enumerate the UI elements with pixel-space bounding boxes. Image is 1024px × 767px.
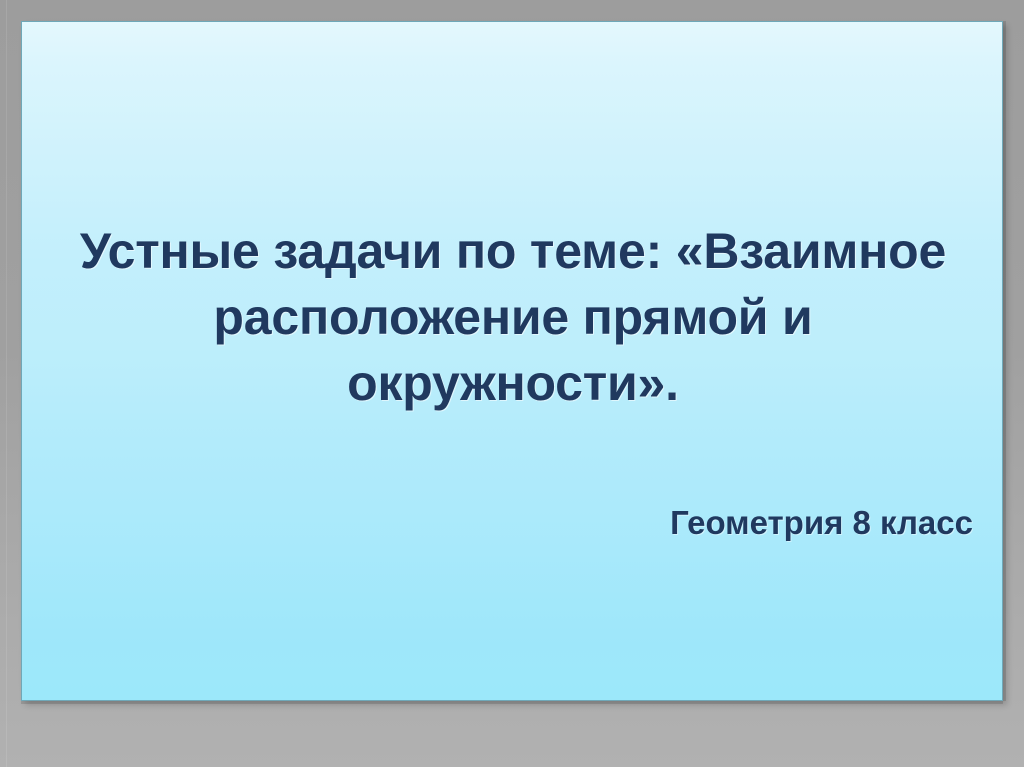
slide-title-placeholder[interactable]: Устные задачи по теме: «Взаимное располо… bbox=[72, 218, 954, 416]
slide-title: Устные задачи по теме: «Взаимное располо… bbox=[72, 218, 954, 416]
presentation-slide[interactable]: Устные задачи по теме: «Взаимное располо… bbox=[21, 21, 1003, 701]
slide-subtitle-placeholder[interactable]: Геометрия 8 класс bbox=[72, 501, 973, 545]
slide-subtitle: Геометрия 8 класс bbox=[72, 501, 973, 545]
slide-content-area: Устные задачи по теме: «Взаимное располо… bbox=[22, 22, 1002, 700]
slide-viewer: Устные задачи по теме: «Взаимное располо… bbox=[0, 0, 1024, 767]
